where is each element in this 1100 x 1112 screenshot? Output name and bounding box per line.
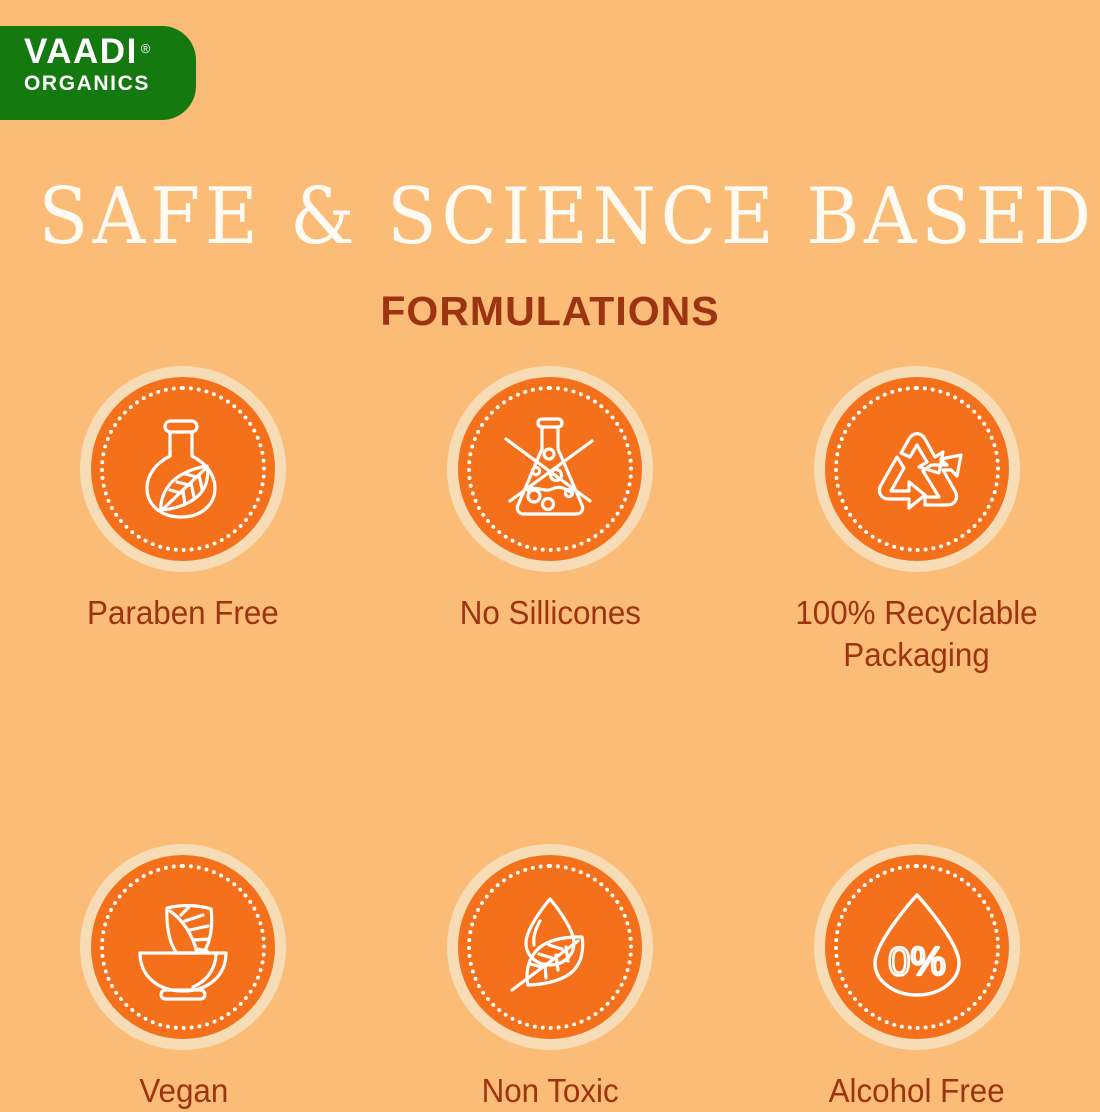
flask-crossed-out-icon bbox=[490, 409, 610, 529]
feature-item-recyclable-packaging: 100% Recyclable Packaging bbox=[733, 366, 1100, 676]
badge-inner-disc bbox=[458, 855, 642, 1039]
feature-item-vegan: Vegan bbox=[0, 844, 367, 1112]
feature-item-non-toxic: Non Toxic bbox=[367, 844, 734, 1112]
feature-grid: Paraben Free bbox=[0, 366, 1100, 1112]
feature-label: Non Toxic bbox=[481, 1070, 618, 1112]
feature-row-1: Paraben Free bbox=[0, 366, 1100, 676]
brand-name: VAADI® bbox=[24, 34, 138, 70]
feature-label: 100% Recyclable Packaging bbox=[796, 592, 1038, 676]
page-subheadline: FORMULATIONS bbox=[0, 288, 1100, 335]
feature-label: No Sillicones bbox=[459, 592, 640, 634]
feature-label: Alcohol Free bbox=[829, 1070, 1005, 1112]
feature-label: Vegan bbox=[139, 1070, 228, 1112]
brand-logo: VAADI® ORGANICS bbox=[0, 26, 196, 120]
page-headline: SAFE & SCIENCE BASED bbox=[39, 176, 1062, 258]
feature-item-no-sillicones: No Sillicones bbox=[367, 366, 734, 676]
feature-badge bbox=[447, 366, 653, 572]
recycle-icon bbox=[857, 409, 977, 529]
feature-badge bbox=[80, 844, 286, 1050]
brand-name-text: VAADI bbox=[24, 32, 138, 71]
badge-inner-disc bbox=[458, 377, 642, 561]
feature-item-alcohol-free: 0% Alcohol Free bbox=[733, 844, 1100, 1112]
badge-inner-disc bbox=[91, 855, 275, 1039]
feature-badge bbox=[447, 844, 653, 1050]
droplet-leaf-icon bbox=[490, 887, 610, 1007]
feature-label: Paraben Free bbox=[87, 592, 279, 634]
poster-canvas: VAADI® ORGANICS SAFE & SCIENCE BASED FOR… bbox=[0, 0, 1100, 1100]
badge-inner-disc bbox=[91, 377, 275, 561]
feature-badge bbox=[80, 366, 286, 572]
registered-trademark-icon: ® bbox=[141, 31, 152, 67]
bowl-leaf-icon bbox=[123, 887, 243, 1007]
feature-item-paraben-free: Paraben Free bbox=[0, 366, 367, 676]
zero-percent-text: 0% bbox=[888, 940, 946, 984]
badge-inner-disc bbox=[825, 377, 1009, 561]
feature-badge bbox=[814, 366, 1020, 572]
feature-row-2: Vegan bbox=[0, 844, 1100, 1112]
feature-badge: 0% bbox=[814, 844, 1020, 1050]
badge-inner-disc: 0% bbox=[825, 855, 1009, 1039]
droplet-zero-percent-icon: 0% bbox=[857, 887, 977, 1007]
flask-leaf-icon bbox=[123, 409, 243, 529]
brand-tagline: ORGANICS bbox=[24, 71, 196, 97]
